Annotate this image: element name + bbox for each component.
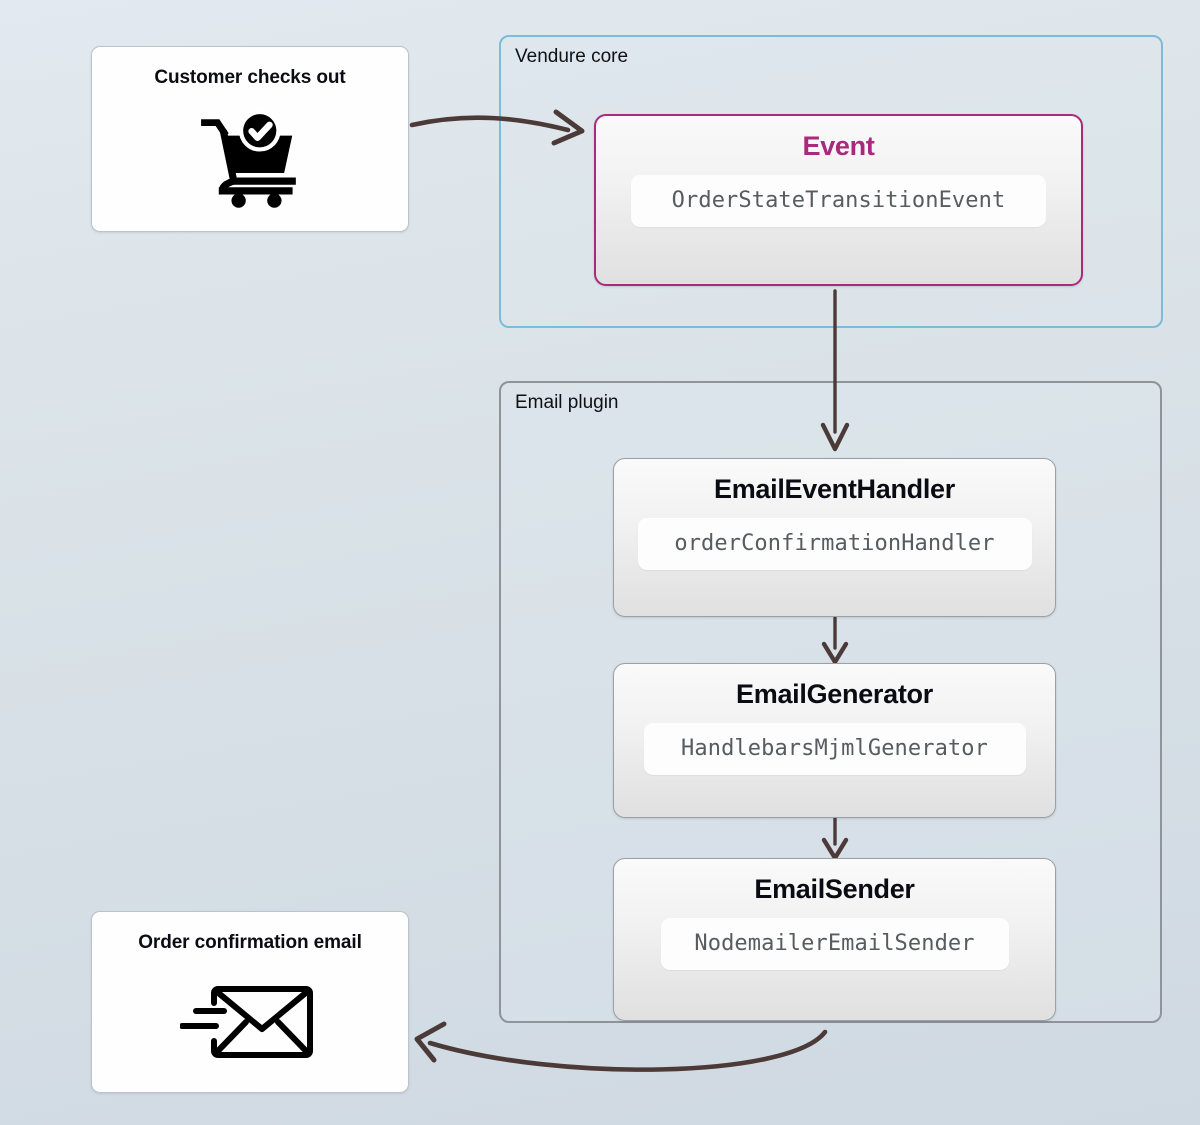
node-order-confirmation-email[interactable]: Order confirmation email: [91, 911, 409, 1093]
node-label-customer-checks-out: Customer checks out: [154, 67, 345, 89]
diagram-canvas: Vendure core Email plugin Customer check…: [0, 0, 1200, 1125]
component-event[interactable]: Event OrderStateTransitionEvent: [594, 114, 1083, 286]
component-impl-email-event-handler: orderConfirmationHandler: [638, 518, 1032, 570]
component-impl-email-sender: NodemailerEmailSender: [661, 918, 1009, 970]
cluster-title-vendure-core: Vendure core: [515, 46, 628, 68]
component-title-event: Event: [802, 131, 874, 162]
node-label-order-confirmation-email: Order confirmation email: [138, 932, 362, 954]
component-impl-event: OrderStateTransitionEvent: [631, 175, 1046, 227]
shopping-cart-check-icon: [198, 108, 302, 212]
component-title-email-sender: EmailSender: [754, 874, 914, 905]
sent-envelope-icon-wrap: [92, 954, 408, 1092]
component-email-event-handler[interactable]: EmailEventHandler orderConfirmationHandl…: [613, 458, 1056, 617]
node-customer-checks-out[interactable]: Customer checks out: [91, 46, 409, 232]
shopping-cart-check-icon-wrap: [92, 89, 408, 231]
component-impl-email-generator: HandlebarsMjmlGenerator: [644, 723, 1026, 775]
component-email-generator[interactable]: EmailGenerator HandlebarsMjmlGenerator: [613, 663, 1056, 818]
component-title-email-generator: EmailGenerator: [736, 679, 933, 710]
edge-sender-to-email: [417, 1024, 825, 1070]
component-title-email-event-handler: EmailEventHandler: [714, 474, 955, 505]
sent-envelope-icon: [180, 981, 320, 1065]
cluster-title-email-plugin: Email plugin: [515, 392, 619, 414]
component-email-sender[interactable]: EmailSender NodemailerEmailSender: [613, 858, 1056, 1021]
